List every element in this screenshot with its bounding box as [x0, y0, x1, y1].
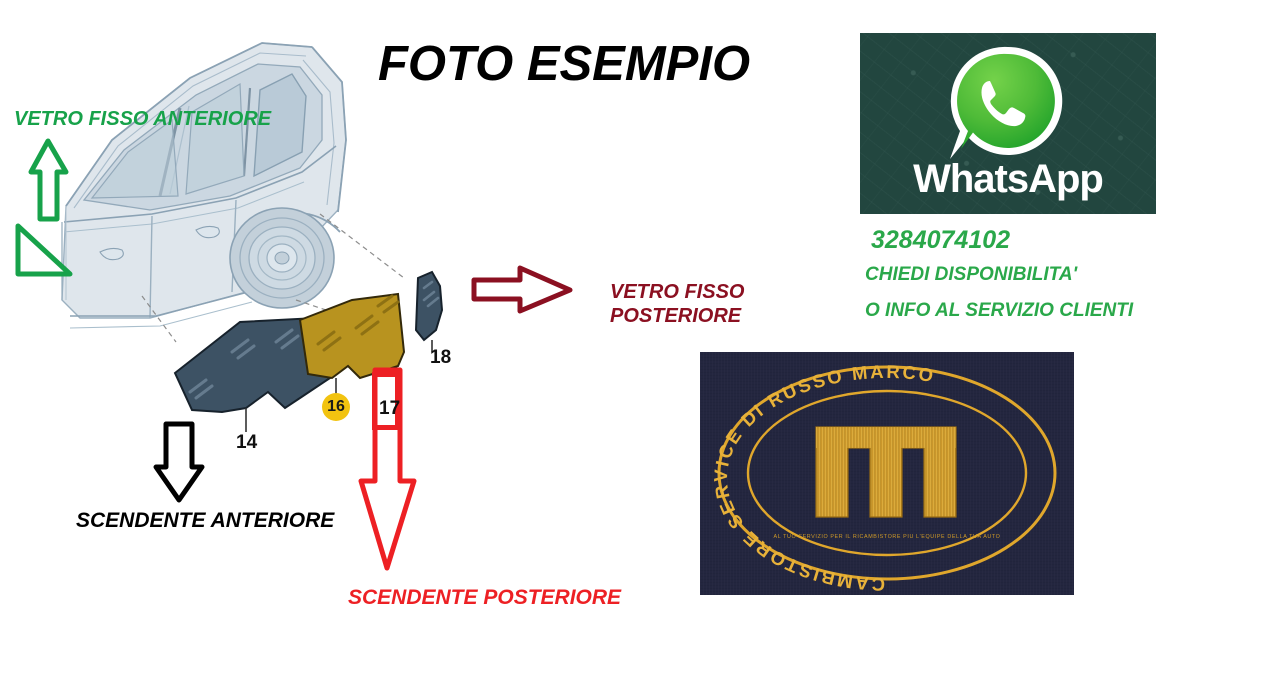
label-scendente-anteriore: SCENDENTE ANTERIORE	[76, 509, 334, 534]
label-vetro-fisso-posteriore: VETRO FISSO POSTERIORE	[610, 281, 744, 328]
contact-line-1: CHIEDI DISPONIBILITA'	[865, 264, 1077, 286]
phone-number[interactable]: 3284074102	[871, 226, 1010, 255]
car-illustration	[62, 43, 346, 328]
company-logo-graphic: MRICAMBISTORE SERVICE DI RUSSO MARCO AL …	[700, 352, 1074, 595]
whatsapp-icon	[942, 41, 1074, 165]
part-number-17: 17	[379, 398, 400, 420]
page-title: FOTO ESEMPIO	[378, 36, 750, 92]
part-number-16: 16	[322, 393, 350, 421]
right-arrow-darkred-icon	[474, 268, 570, 311]
whatsapp-banner: WhatsApp	[860, 33, 1156, 214]
up-arrow-green-icon	[31, 141, 66, 219]
part-number-14: 14	[236, 432, 257, 454]
logo-sub-text: AL TUO SERVIZIO PER IL RICAMBISTORE PIU …	[774, 534, 1001, 540]
part-number-18: 18	[430, 347, 451, 369]
contact-line-2: O INFO AL SERVIZIO CLIENTI	[865, 300, 1133, 322]
label-vetro-fisso-posteriore-line1: VETRO FISSO	[610, 281, 744, 305]
whatsapp-wordmark: WhatsApp	[860, 157, 1156, 202]
company-logo-plate: MRICAMBISTORE SERVICE DI RUSSO MARCO AL …	[700, 352, 1074, 595]
label-vetro-fisso-posteriore-line2: POSTERIORE	[610, 305, 744, 329]
label-scendente-posteriore: SCENDENTE POSTERIORE	[348, 586, 621, 611]
down-arrow-black-icon	[156, 424, 202, 500]
label-vetro-fisso-anteriore: VETRO FISSO ANTERIORE	[14, 108, 271, 132]
part-18-glass	[416, 272, 442, 352]
logo-monogram	[816, 427, 956, 517]
exploded-parts-diagram	[0, 0, 660, 660]
